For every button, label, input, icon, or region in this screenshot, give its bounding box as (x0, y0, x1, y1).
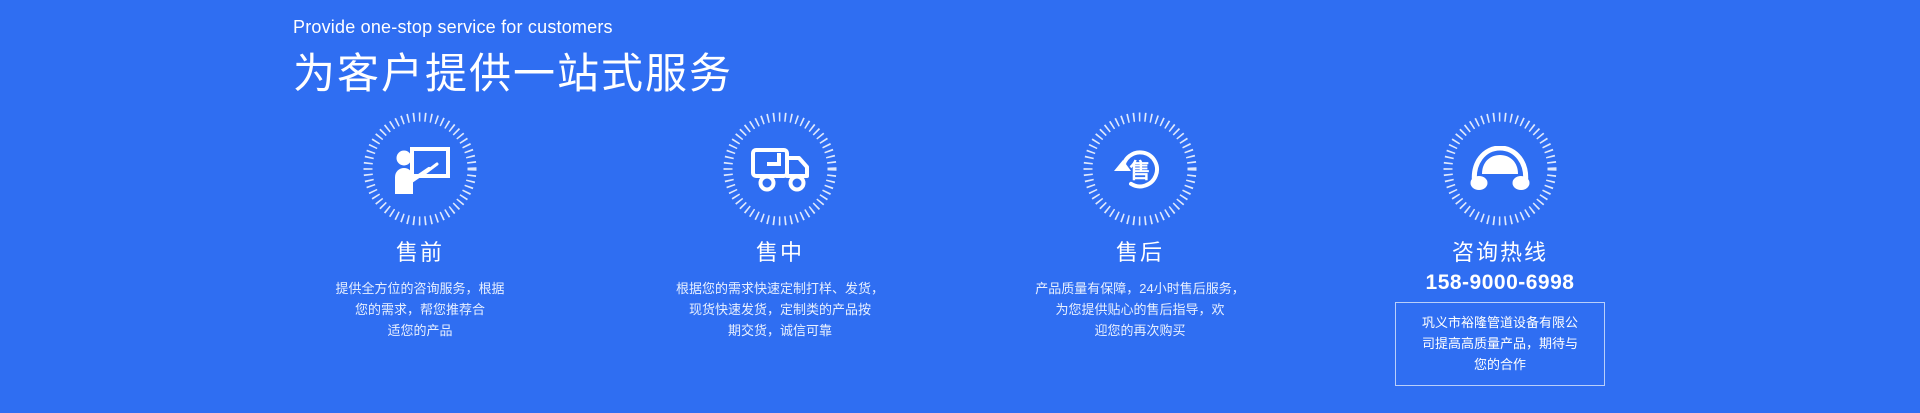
service-label: 售前 (396, 240, 444, 266)
page-title: 为客户提供一站式服务 (293, 49, 733, 99)
desc-line: 现货快速发货，定制类的产品按 (676, 299, 884, 320)
service-column-hotline[interactable]: 咨询热线 158-9000-6998 巩义市裕隆管道设备有限公 司提高高质量产品… (1365, 110, 1635, 386)
info-line: 司提高高质量产品，期待与 (1410, 333, 1590, 354)
after-sale-refresh-icon: 售 (1109, 138, 1171, 200)
desc-line: 提供全方位的咨询服务，根据 (335, 278, 504, 299)
hotline-phone-number[interactable]: 158-9000-6998 (1426, 270, 1575, 295)
desc-line: 根据您的需求快速定制打样、发货， (676, 278, 884, 299)
service-label: 售后 (1116, 240, 1164, 266)
icon-ring-1 (361, 110, 479, 228)
delivery-truck-icon (749, 138, 811, 200)
desc-line: 产品质量有保障，24小时售后服务， (1035, 278, 1244, 299)
desc-line: 您的需求，帮您推荐合 (335, 299, 504, 320)
icon-ring-2 (721, 110, 839, 228)
desc-line: 为您提供贴心的售后指导，欢 (1035, 299, 1244, 320)
service-column-pre-sale[interactable]: 售前 提供全方位的咨询服务，根据 您的需求，帮您推荐合 适您的产品 (285, 110, 555, 341)
desc-line: 迎您的再次购买 (1035, 320, 1244, 341)
service-description: 产品质量有保障，24小时售后服务， 为您提供贴心的售后指导，欢 迎您的再次购买 (1035, 278, 1244, 341)
service-description: 提供全方位的咨询服务，根据 您的需求，帮您推荐合 适您的产品 (335, 278, 504, 341)
info-line: 您的合作 (1410, 354, 1590, 375)
company-info-box: 巩义市裕隆管道设备有限公 司提高高质量产品，期待与 您的合作 (1395, 302, 1605, 386)
icon-ring-4 (1441, 110, 1559, 228)
info-line: 巩义市裕隆管道设备有限公 (1410, 312, 1590, 333)
desc-line: 期交货，诚信可靠 (676, 320, 884, 341)
service-column-in-sale[interactable]: 售中 根据您的需求快速定制打样、发货， 现货快速发货，定制类的产品按 期交货，诚… (645, 110, 915, 341)
hotline-label: 咨询热线 (1452, 240, 1548, 266)
banner-subtitle: Provide one-stop service for customers (293, 16, 733, 39)
telephone-icon (1469, 138, 1531, 200)
after-sale-glyph: 售 (1130, 159, 1151, 183)
icon-ring-3: 售 (1081, 110, 1199, 228)
service-columns: 售前 提供全方位的咨询服务，根据 您的需求，帮您推荐合 适您的产品 (285, 110, 1635, 386)
desc-line: 适您的产品 (335, 320, 504, 341)
service-description: 根据您的需求快速定制打样、发货， 现货快速发货，定制类的产品按 期交货，诚信可靠 (676, 278, 884, 341)
heading-block: Provide one-stop service for customers 为… (293, 16, 733, 100)
service-label: 售中 (756, 240, 804, 266)
presenter-whiteboard-icon (389, 138, 451, 200)
one-stop-service-banner: Provide one-stop service for customers 为… (0, 0, 1920, 413)
service-column-after-sale[interactable]: 售 售后 产品质量有保障，24小时售后服务， 为您提供贴心的售后指导，欢 迎您的… (1005, 110, 1275, 341)
